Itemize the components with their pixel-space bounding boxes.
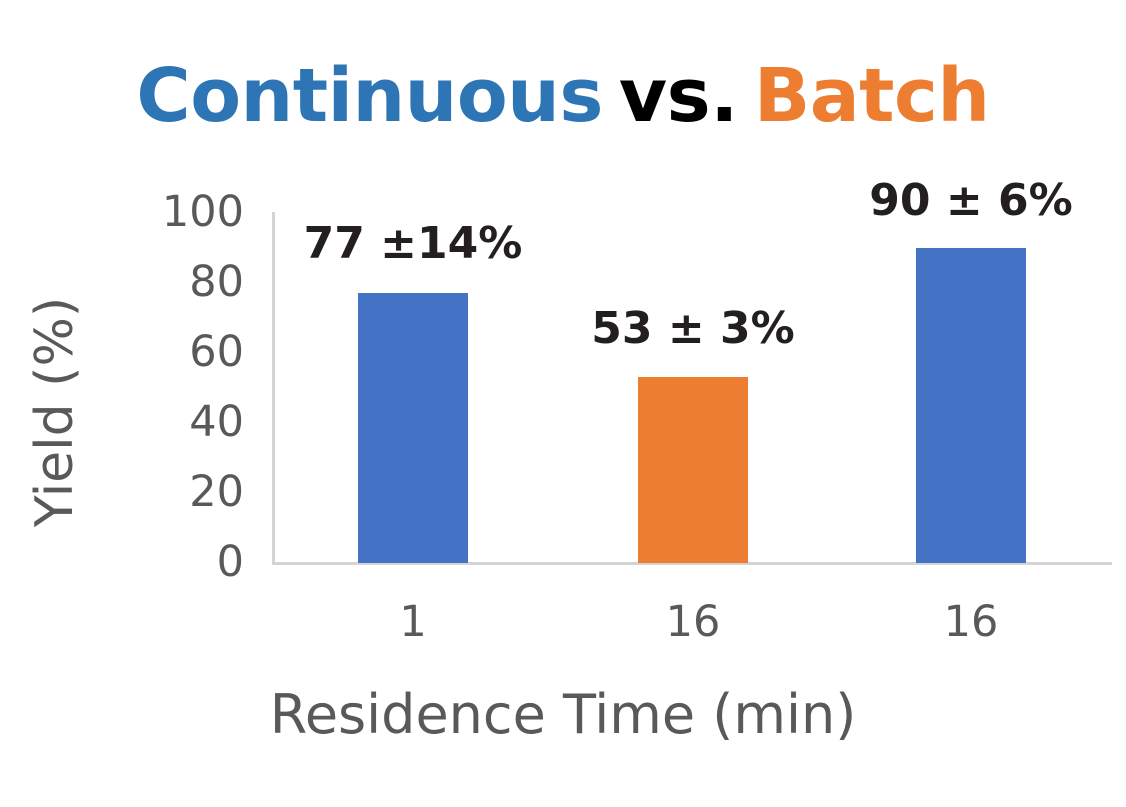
bar-chart-plot-area: 100 80 60 40 20 0 Yield (%) 77 ±14% 53 ±…: [0, 0, 1126, 807]
y-tick-label: 80: [114, 256, 244, 308]
x-tick-label-2: 16: [613, 596, 773, 648]
bar-series-continuous-16[interactable]: [916, 248, 1026, 563]
y-axis-tick-labels: 100 80 60 40 20 0: [118, 186, 256, 590]
y-tick-label: 20: [114, 466, 244, 518]
bar-value-label-1: 77 ±14%: [293, 218, 533, 270]
y-tick-label: 0: [114, 536, 244, 588]
bar-value-label-2: 53 ± 3%: [573, 303, 813, 355]
bar-series-batch-16[interactable]: [638, 377, 748, 563]
y-axis-title: Yield (%): [25, 252, 85, 572]
y-tick-label: 100: [114, 186, 244, 238]
y-axis-line: [272, 212, 275, 564]
bar-value-label-3: 90 ± 6%: [851, 175, 1091, 227]
y-tick-label: 60: [114, 326, 244, 378]
x-tick-label-1: 1: [333, 596, 493, 648]
x-tick-label-3: 16: [891, 596, 1051, 648]
bar-series-continuous-1[interactable]: [358, 293, 468, 563]
y-tick-label: 40: [114, 396, 244, 448]
x-axis-title: Residence Time (min): [0, 682, 1126, 748]
